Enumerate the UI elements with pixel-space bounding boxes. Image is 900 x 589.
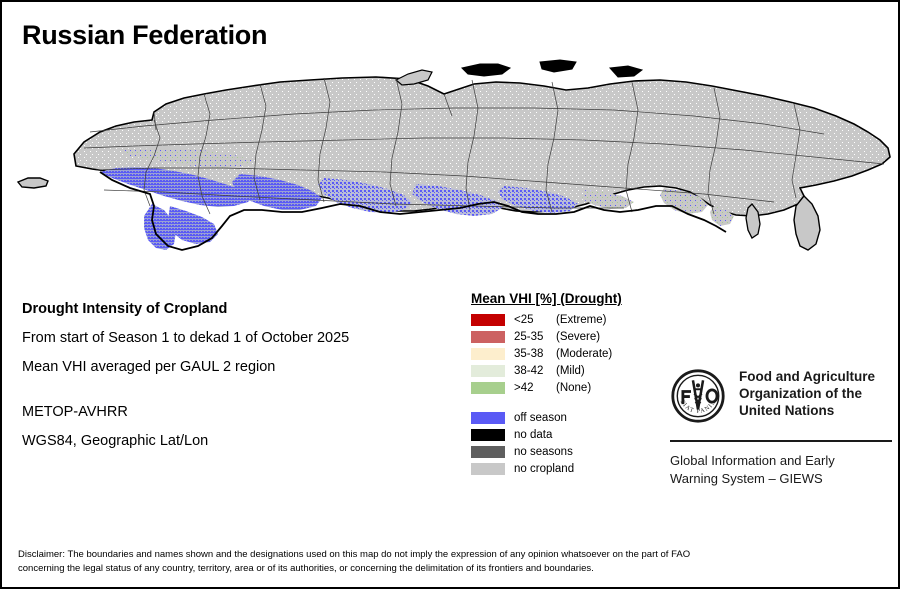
legend-label-none: >42(None): [514, 382, 591, 394]
legend-class-none: (None): [556, 382, 591, 394]
legend-swatch-moderate: [471, 348, 505, 360]
legend-range-severe: 25-35: [514, 331, 556, 343]
legend-item-no-seasons[interactable]: no seasons: [471, 443, 671, 460]
fao-organization-name: Food and Agriculture Organization of the…: [739, 368, 875, 419]
info-sensor: METOP-AVHRR: [22, 401, 452, 423]
legend-label-no-seasons: no seasons: [514, 446, 573, 458]
legend-item-no-data[interactable]: no data: [471, 426, 671, 443]
info-spacer: [22, 385, 452, 401]
giews-line-2: Warning System – GIEWS: [670, 470, 892, 488]
info-projection: WGS84, Geographic Lat/Lon: [22, 430, 452, 452]
fao-logo-row: FIAT PANIS Food and Agriculture Organiza…: [670, 368, 892, 429]
legend-label-no-cropland: no cropland: [514, 463, 574, 475]
legend-range-mild: 38-42: [514, 365, 556, 377]
map-legend: Mean VHI [%] (Drought) <25(Extreme) 25-3…: [471, 291, 671, 477]
legend-range-none: >42: [514, 382, 556, 394]
legend-label-moderate: 35-38(Moderate): [514, 348, 612, 360]
russia-choropleth-map[interactable]: [4, 54, 898, 264]
legend-class-severe: (Severe): [556, 331, 600, 343]
legend-label-severe: 25-35(Severe): [514, 331, 600, 343]
legend-range-moderate: 35-38: [514, 348, 556, 360]
legend-swatch-extreme: [471, 314, 505, 326]
legend-swatch-off-season: [471, 412, 505, 424]
legend-item-moderate[interactable]: 35-38(Moderate): [471, 345, 671, 362]
map-canvas[interactable]: [4, 54, 898, 264]
legend-class-extreme: (Extreme): [556, 314, 606, 326]
legend-range-extreme: <25: [514, 314, 556, 326]
legend-item-extreme[interactable]: <25(Extreme): [471, 311, 671, 328]
giews-line-1: Global Information and Early: [670, 452, 892, 470]
legend-item-severe[interactable]: 25-35(Severe): [471, 328, 671, 345]
page-title: Russian Federation: [22, 20, 267, 51]
legend-label-off-season: off season: [514, 412, 567, 424]
legend-swatch-no-data: [471, 429, 505, 441]
map-poster: Russian Federation: [0, 0, 900, 589]
fao-emblem-icon: FIAT PANIS: [670, 368, 726, 429]
legend-swatch-severe: [471, 331, 505, 343]
legend-class-moderate: (Moderate): [556, 348, 612, 360]
map-info-block: Drought Intensity of Cropland From start…: [22, 298, 452, 459]
disclaimer-line-2: concerning the legal status of any count…: [18, 562, 888, 576]
legend-class-mild: (Mild): [556, 365, 585, 377]
fao-org-line-2: Organization of the: [739, 385, 875, 402]
legend-label-no-data: no data: [514, 429, 552, 441]
legend-item-mild[interactable]: 38-42(Mild): [471, 362, 671, 379]
legend-swatch-no-cropland: [471, 463, 505, 475]
legend-item-off-season[interactable]: off season: [471, 409, 671, 426]
info-aggregation: Mean VHI averaged per GAUL 2 region: [22, 356, 452, 378]
legend-label-mild: 38-42(Mild): [514, 365, 585, 377]
giews-programme-name: Global Information and Early Warning Sys…: [670, 452, 892, 488]
info-heading: Drought Intensity of Cropland: [22, 298, 452, 320]
disclaimer-line-1: Disclaimer: The boundaries and names sho…: [18, 548, 888, 562]
fao-org-line-1: Food and Agriculture: [739, 368, 875, 385]
info-period: From start of Season 1 to dekad 1 of Oct…: [22, 327, 452, 349]
legend-item-no-cropland[interactable]: no cropland: [471, 460, 671, 477]
legend-label-extreme: <25(Extreme): [514, 314, 606, 326]
legend-swatch-no-seasons: [471, 446, 505, 458]
legend-swatch-mild: [471, 365, 505, 377]
legend-swatch-none: [471, 382, 505, 394]
fao-org-line-3: United Nations: [739, 402, 875, 419]
fao-logo-icon: FIAT PANIS: [670, 368, 726, 424]
legend-group-spacer: [471, 396, 671, 409]
fao-divider: [670, 440, 892, 442]
kaliningrad-exclave: [18, 178, 48, 188]
legend-title: Mean VHI [%] (Drought): [471, 291, 671, 306]
disclaimer: Disclaimer: The boundaries and names sho…: [18, 548, 888, 576]
legend-item-none[interactable]: >42(None): [471, 379, 671, 396]
fao-branding: FIAT PANIS Food and Agriculture Organiza…: [670, 368, 892, 488]
